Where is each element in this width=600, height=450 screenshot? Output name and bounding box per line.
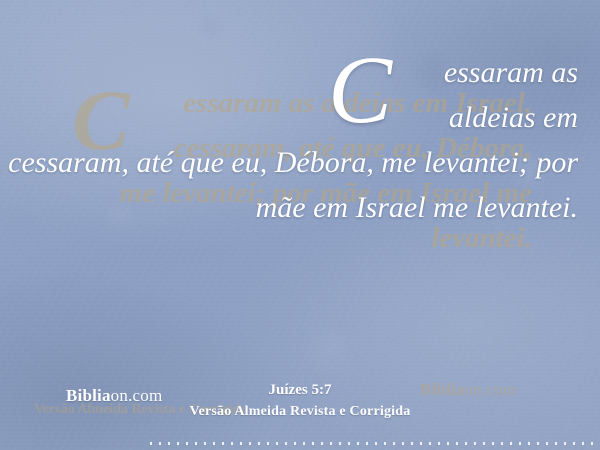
verse-text: Cessaram as aldeias em Israel, cessaram,… xyxy=(0,50,578,230)
site-logo[interactable]: Bibliaon.com xyxy=(66,386,162,406)
footer: Bibliaon.com Versão Almeida Revista e Co… xyxy=(0,372,600,450)
dotted-divider xyxy=(150,442,600,445)
verse-body: essaram as aldeias em Israel, cessaram, … xyxy=(0,56,578,224)
site-logo-bold: Biblia xyxy=(66,386,111,405)
verse-dropcap: C xyxy=(328,50,394,125)
verse-reference: Juízes 5:7 xyxy=(150,382,450,399)
ghost-site-logo-rest: on.com xyxy=(465,380,517,399)
bible-version-label: Versão Almeida Revista e Corrigida xyxy=(150,404,450,420)
verse-image-card: Cessaram as aldeias em Israel, cessaram,… xyxy=(0,0,600,450)
